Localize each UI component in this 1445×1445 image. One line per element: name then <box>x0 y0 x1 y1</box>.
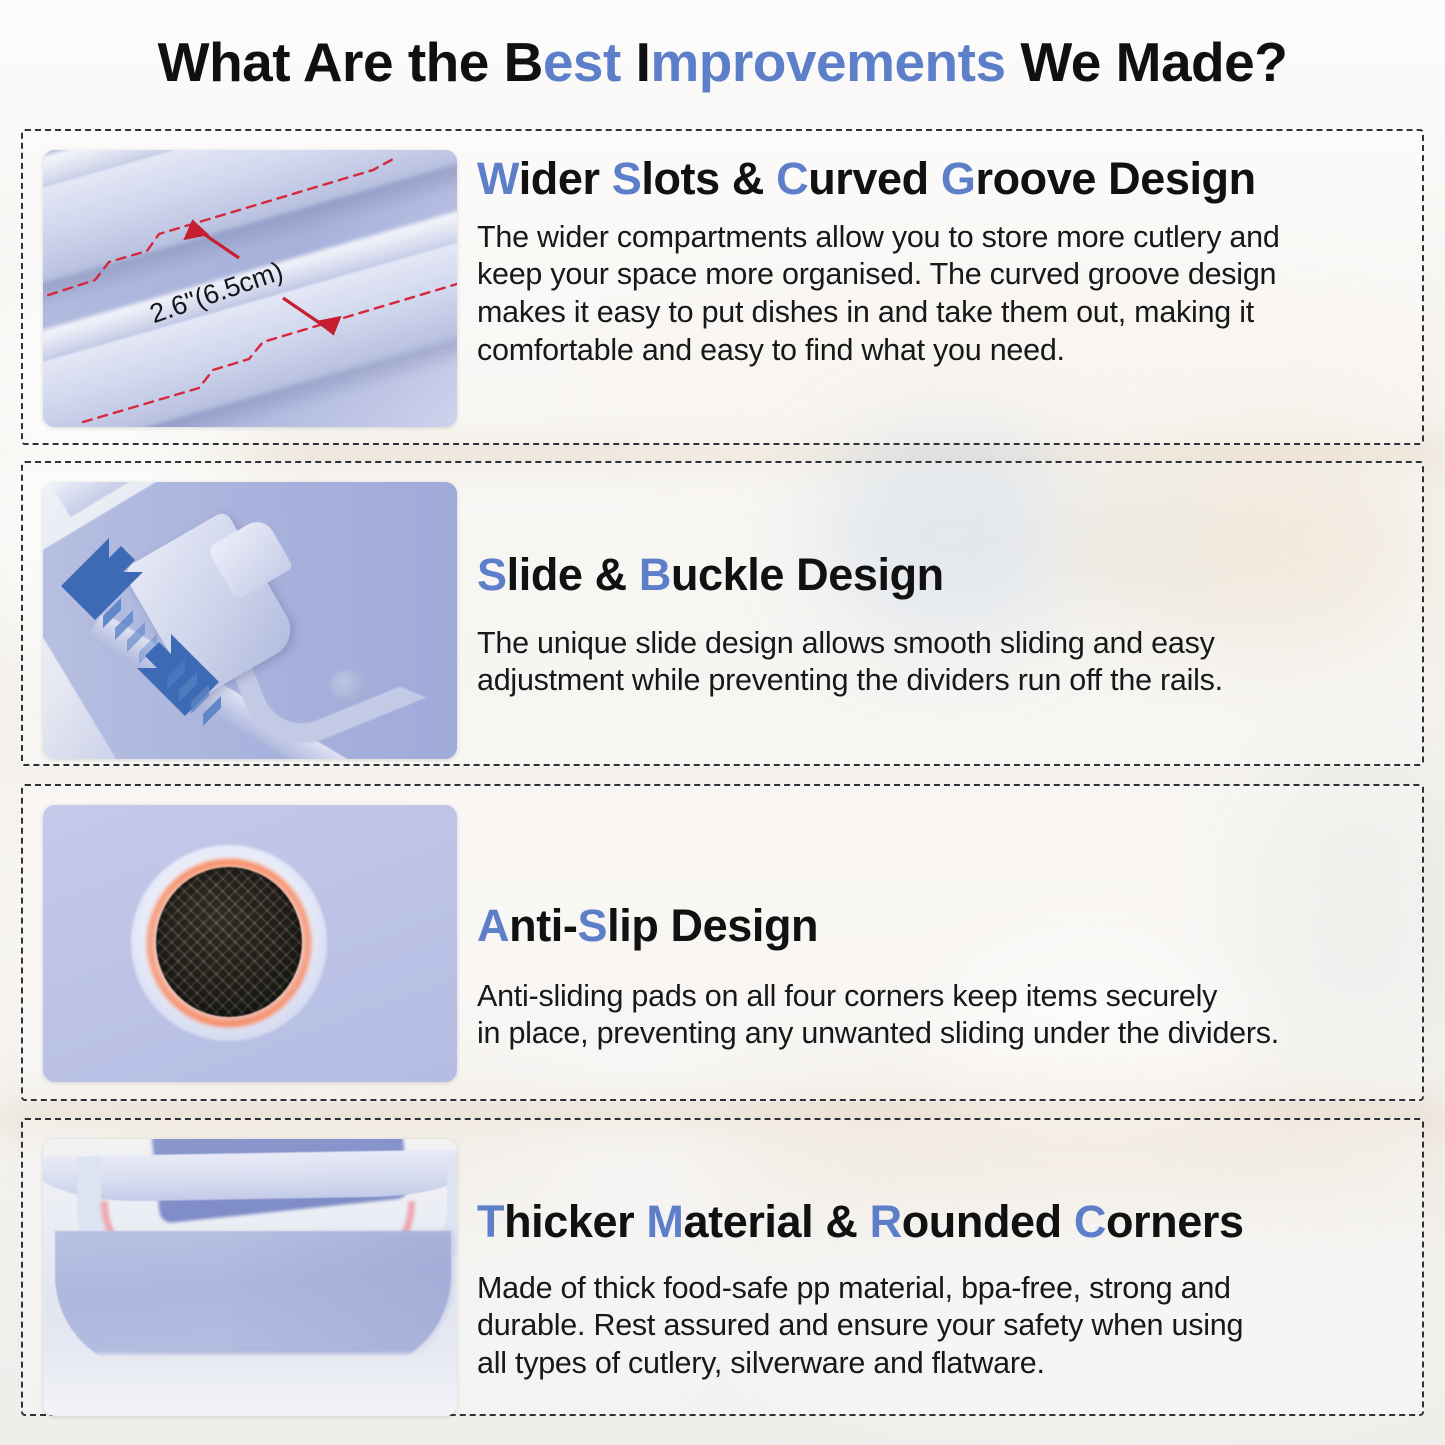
feature-body: The wider compartments allow you to stor… <box>477 219 1406 370</box>
feature-heading: Wider Slots & Curved Groove Design <box>477 155 1406 203</box>
feature-heading: Anti-Slip Design <box>477 902 1406 950</box>
surface-below <box>43 1354 457 1416</box>
feature-section-thicker-material: Thicker Material & Rounded Corners Made … <box>21 1118 1424 1416</box>
feature-section-wider-slots: 2.6"(6.5cm) Wider Slots & Curved Groove … <box>21 129 1424 445</box>
feature-copy: Thicker Material & Rounded Corners Made … <box>457 1120 1422 1383</box>
feature-copy: Slide & Buckle Design The unique slide d… <box>457 463 1422 700</box>
wider-slots-groove-photo: 2.6"(6.5cm) <box>43 150 457 427</box>
feature-copy: Anti-Slip Design Anti-sliding pads on al… <box>457 786 1422 1053</box>
anti-slip-pad-photo <box>43 805 457 1082</box>
rounded-corner-photo <box>43 1139 457 1416</box>
infographic-page: What Are the Best Improvements We Made? <box>0 0 1445 1445</box>
page-title: What Are the Best Improvements We Made? <box>0 34 1445 92</box>
feature-body: The unique slide design allows smooth sl… <box>477 625 1406 700</box>
feature-heading: Thicker Material & Rounded Corners <box>477 1198 1406 1246</box>
feature-body: Made of thick food-safe pp material, bpa… <box>477 1270 1406 1383</box>
tray-side-shading <box>233 1231 453 1371</box>
slide-buckle-photo <box>43 482 457 759</box>
feature-copy: Wider Slots & Curved Groove Design The w… <box>457 131 1422 369</box>
textured-rubber-pad <box>156 867 302 1017</box>
anti-slip-pad-assembly <box>131 845 327 1041</box>
feature-body: Anti-sliding pads on all four corners ke… <box>477 978 1406 1053</box>
blue-two-way-slide-arrows <box>43 482 457 759</box>
feature-section-slide-buckle: Slide & Buckle Design The unique slide d… <box>21 461 1424 766</box>
feature-section-anti-slip: Anti-Slip Design Anti-sliding pads on al… <box>21 784 1424 1101</box>
feature-heading: Slide & Buckle Design <box>477 551 1406 599</box>
